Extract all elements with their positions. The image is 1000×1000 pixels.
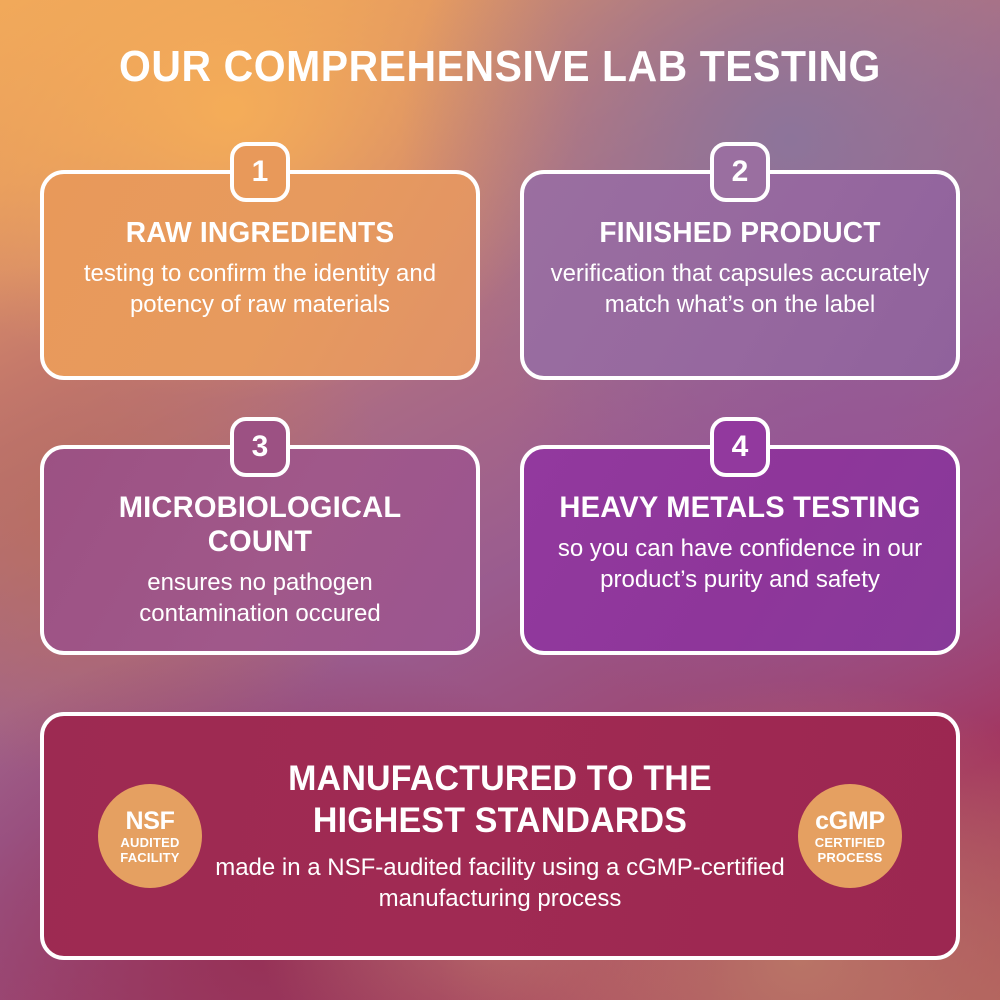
step-card-2: 2 FINISHED PRODUCT verification that cap… — [520, 170, 960, 380]
nsf-seal-main-label: NSF — [125, 808, 174, 835]
step-number-badge-4: 4 — [710, 417, 770, 477]
manufacturing-standards-card: NSF AUDITED FACILITY MANUFACTURED TO THE… — [40, 712, 960, 960]
step-card-title-2: FINISHED PRODUCT — [556, 216, 925, 250]
cgmp-seal-line1: CERTIFIED — [815, 835, 885, 850]
step-card-desc-2: verification that capsules accurately ma… — [550, 258, 930, 320]
step-card-desc-1: testing to confirm the identity and pote… — [70, 258, 450, 320]
manufacturing-standards-text: MANUFACTURED TO THE HIGHEST STANDARDS ma… — [202, 758, 798, 914]
step-number-badge-1: 1 — [230, 142, 290, 202]
step-number-badge-3: 3 — [230, 417, 290, 477]
step-card-3: 3 MICROBIOLOGICAL COUNT ensures no patho… — [40, 445, 480, 655]
nsf-seal-line2: FACILITY — [120, 850, 179, 865]
step-card-title-1: RAW INGREDIENTS — [76, 216, 445, 250]
step-card-title-3: MICROBIOLOGICAL COUNT — [76, 491, 445, 559]
step-number-badge-2: 2 — [710, 142, 770, 202]
manufacturing-standards-title: MANUFACTURED TO THE HIGHEST STANDARDS — [219, 758, 782, 842]
nsf-audited-facility-seal: NSF AUDITED FACILITY — [98, 784, 202, 888]
step-card-title-4: HEAVY METALS TESTING — [556, 491, 925, 525]
page-title: OUR COMPREHENSIVE LAB TESTING — [35, 40, 965, 94]
manufacturing-standards-content: NSF AUDITED FACILITY MANUFACTURED TO THE… — [44, 716, 956, 956]
step-card-1: 1 RAW INGREDIENTS testing to confirm the… — [40, 170, 480, 380]
nsf-seal-line1: AUDITED — [120, 835, 179, 850]
step-card-desc-3: ensures no pathogen contamination occure… — [70, 567, 450, 629]
step-card-desc-4: so you can have confidence in our produc… — [550, 533, 930, 595]
cgmp-seal-line2: PROCESS — [818, 850, 883, 865]
step-card-4: 4 HEAVY METALS TESTING so you can have c… — [520, 445, 960, 655]
manufacturing-standards-desc: made in a NSF-audited facility using a c… — [210, 852, 790, 914]
infographic-canvas: OUR COMPREHENSIVE LAB TESTING 1 RAW INGR… — [0, 0, 1000, 1000]
cgmp-seal-main-label: cGMP — [815, 808, 885, 835]
cgmp-certified-process-seal: cGMP CERTIFIED PROCESS — [798, 784, 902, 888]
